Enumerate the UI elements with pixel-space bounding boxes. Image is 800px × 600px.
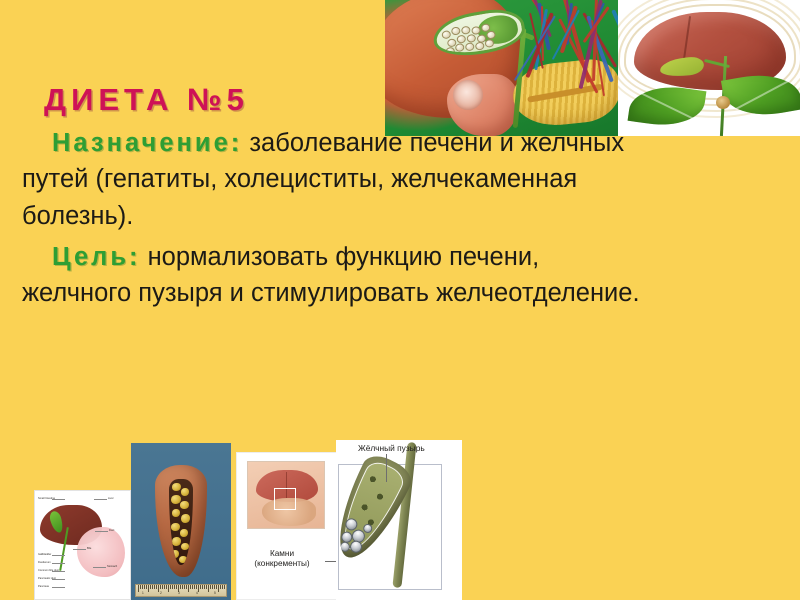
torso-photo <box>247 461 325 529</box>
diagram-label: Duct <box>109 529 114 532</box>
goal-label: Цель: <box>52 243 141 271</box>
ruler-tick <box>154 585 155 589</box>
paragraph-goal: Цель: нормализовать функцию печени, желч… <box>0 239 660 312</box>
ruler-tick <box>170 585 171 589</box>
ruler-tick <box>150 585 151 589</box>
gallstones-cluster <box>441 20 499 55</box>
ruler-tick <box>146 585 147 589</box>
ruler-tick <box>190 585 191 589</box>
page-title: ДИЕТА №5 <box>44 84 660 117</box>
ruler-tick <box>148 585 149 592</box>
ruler-tick <box>144 585 145 589</box>
liver-stomach-diagram: Small IntestineLiverGallbladderDuodenumC… <box>34 490 131 600</box>
ruler-tick <box>194 585 195 589</box>
purpose-label: Назначение: <box>52 129 242 157</box>
ruler-tick <box>164 585 165 589</box>
gallbladder-cutaway-diagram: Жёлчный пузырь <box>336 440 462 600</box>
callout-leader-line <box>386 454 387 482</box>
ruler-tick <box>200 585 201 589</box>
diagram-leader-line <box>52 571 65 572</box>
paragraph-purpose: Назначение: заболевание печени и желчных… <box>0 125 660 235</box>
ruler-tick <box>196 585 197 589</box>
diagram-leader-line <box>52 555 65 556</box>
ruler-tick <box>202 585 203 589</box>
gallstone <box>181 488 189 496</box>
diagram-leader-line <box>95 531 108 532</box>
ruler-tick <box>208 585 209 592</box>
gallstone <box>171 523 180 531</box>
diagram-label: Stomach <box>107 565 117 568</box>
ruler-number: 5 <box>214 591 216 595</box>
gallstone <box>180 501 189 509</box>
gallstone <box>171 550 179 558</box>
ruler-tick <box>166 585 167 589</box>
ruler-tick <box>162 585 163 589</box>
ruler-tick <box>198 585 199 592</box>
diagram-label: Liver <box>108 497 114 500</box>
ruler-tick <box>218 585 219 592</box>
gallstone <box>181 543 189 550</box>
ruler-number: 2 <box>160 591 162 595</box>
measuring-ruler: 12345 <box>135 584 227 597</box>
ruler-tick <box>210 585 211 589</box>
ruler-number: 3 <box>178 591 180 595</box>
ruler-tick <box>172 585 173 589</box>
gallstone <box>172 537 181 546</box>
ruler-tick <box>226 585 227 589</box>
diagram-label: Pancreas <box>38 585 49 588</box>
ruler-tick <box>212 585 213 589</box>
diagram-label: Gallbladder <box>38 553 51 556</box>
gallstone <box>181 514 190 523</box>
ruler-tick <box>220 585 221 589</box>
diagram-leader-line <box>73 549 86 550</box>
ruler-tick <box>176 585 177 589</box>
ruler-tick <box>158 585 159 592</box>
gallbladder-specimen <box>155 465 207 577</box>
ruler-tick <box>182 585 183 589</box>
ruler-number: 1 <box>142 591 144 595</box>
ruler-tick <box>204 585 205 589</box>
gallstones-specimen-photo: 12345 <box>131 443 231 600</box>
diagram-leader-line <box>94 499 107 500</box>
ruler-tick <box>206 585 207 589</box>
gallbladder-callout-label: Жёлчный пузырь <box>358 443 425 453</box>
ruler-tick <box>138 585 139 592</box>
ruler-tick <box>174 585 175 589</box>
ruler-tick <box>180 585 181 589</box>
ruler-tick <box>184 585 185 589</box>
ruler-tick <box>214 585 215 589</box>
diagram-leader-line <box>52 499 65 500</box>
gallstone <box>179 556 187 563</box>
flower-bud <box>716 96 730 109</box>
diagram-label: Bile <box>87 547 91 550</box>
diagram-leader-line <box>93 567 106 568</box>
diagram-leader-line <box>52 579 65 580</box>
zoom-region-box <box>274 488 296 510</box>
diagram-leader-line <box>52 563 65 564</box>
ruler-tick <box>156 585 157 589</box>
ruler-tick <box>192 585 193 589</box>
ruler-tick <box>186 585 187 589</box>
ruler-tick <box>142 585 143 589</box>
stomach-shape <box>77 527 125 577</box>
ruler-tick <box>188 585 189 592</box>
ruler-tick <box>224 585 225 589</box>
ruler-number: 4 <box>196 591 198 595</box>
ruler-tick <box>160 585 161 589</box>
gallstone <box>172 509 180 517</box>
ruler-tick <box>152 585 153 589</box>
diagram-leader-line <box>52 587 65 588</box>
diagram-label: Duodenum <box>38 561 51 564</box>
ruler-tick <box>140 585 141 589</box>
bottom-image-strip: Small IntestineLiverGallbladderDuodenumC… <box>0 440 462 600</box>
ruler-tick <box>168 585 169 592</box>
stones-callout-label: Камни (конкременты) <box>241 549 323 568</box>
gallstone <box>172 483 181 491</box>
opened-cavity-with-stones <box>169 479 193 565</box>
ruler-tick <box>222 585 223 589</box>
slide-text-block: ДИЕТА №5 Назначение: заболевание печени … <box>0 84 660 312</box>
slide-canvas: ДИЕТА №5 Назначение: заболевание печени … <box>0 0 800 600</box>
ruler-tick <box>216 585 217 589</box>
gallstone <box>180 529 188 537</box>
